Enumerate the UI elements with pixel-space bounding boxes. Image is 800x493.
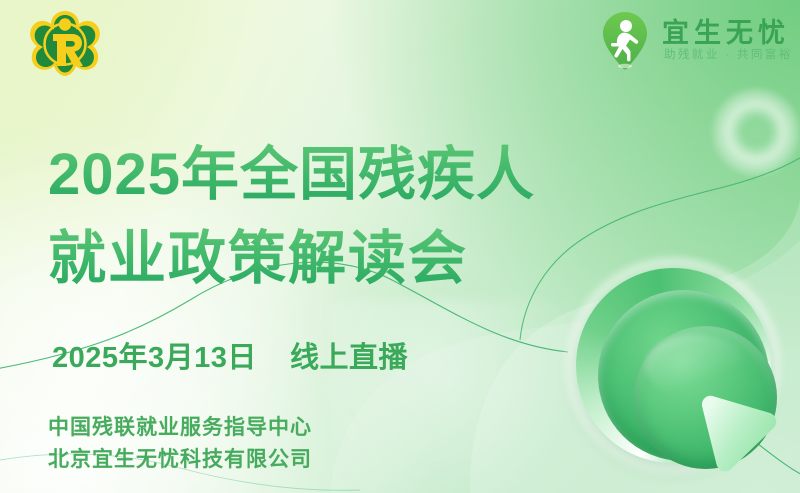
bubble-glow-icon [712, 88, 800, 176]
soft-sheen-glow [330, 300, 590, 493]
organizers: 中国残联就业服务指导中心 北京宜生无忧科技有限公司 [48, 412, 312, 476]
title-line-1: 2025年全国残疾人 [48, 133, 535, 217]
event-date: 2025年3月13日 [52, 342, 257, 374]
event-date-and-mode: 2025年3月13日 线上直播 [52, 334, 408, 376]
event-mode: 线上直播 [290, 342, 408, 374]
brand-tagline: 助残就业 · 共同富裕 [662, 50, 793, 62]
title-line-2: 就业政策解读会 [48, 217, 535, 301]
play-triangle-icon [692, 376, 792, 476]
brand-text-group: 宜生无忧 助残就业 · 共同富裕 [662, 20, 793, 62]
play-button-inner-ring [598, 290, 769, 461]
poster-banner: 宜生无忧 助残就业 · 共同富裕 [0, 0, 800, 493]
play-button[interactable] [566, 258, 781, 473]
organizer-line-1: 中国残联就业服务指导中心 [48, 412, 312, 444]
cdpf-logo-svg [26, 8, 104, 76]
play-button-outer-ring [576, 268, 771, 463]
brand-yishengwuyou: 宜生无忧 助残就业 · 共同富裕 [598, 10, 793, 72]
brand-name: 宜生无忧 [662, 20, 793, 47]
organizer-line-2: 北京宜生无忧科技有限公司 [48, 444, 312, 476]
play-button-face [634, 326, 777, 469]
location-pin-person-icon [598, 10, 652, 72]
cdpf-flower-logo [26, 8, 104, 76]
poster-title: 2025年全国残疾人 就业政策解读会 [48, 133, 535, 301]
